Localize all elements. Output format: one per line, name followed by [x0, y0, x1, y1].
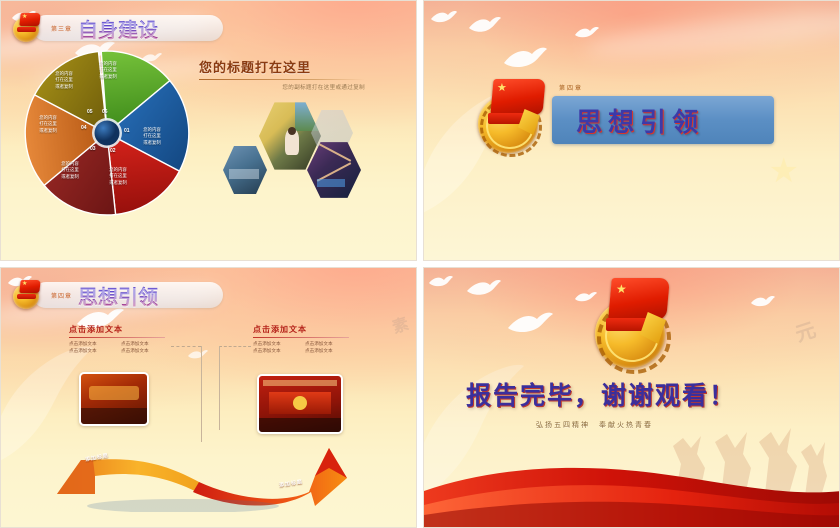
pie-chart[interactable]: 您的内容打在这里或者复制 您的内容打在这里或者复制 您的内容打在这里或者复制 您… [19, 49, 199, 224]
block-body-item: 点击添加文本 [253, 348, 297, 354]
slide-deck-grid: ★ 第三章 自身建设 [0, 0, 840, 528]
chapter-label: 第四章 [559, 83, 583, 92]
slide-header: ★ 第三章 自身建设 [5, 11, 235, 45]
pie-segment-number-03: 03 [90, 146, 96, 152]
pie-segment-number-04: 04 [81, 125, 87, 131]
title-divider [199, 79, 365, 80]
pie-segment-number-01: 01 [124, 128, 130, 134]
text-block-left: 点击添加文本 点击添加文本 点击添加文本 点击添加文本 点击添加文本 [69, 324, 165, 354]
header-chapter-label: 第四章 [51, 291, 72, 300]
pie-segment-number-05: 05 [87, 109, 93, 115]
connector-line [171, 346, 201, 347]
communist-youth-league-emblem-icon: ★ [11, 280, 43, 310]
header-chapter-label: 第三章 [51, 24, 72, 33]
communist-youth-league-emblem-icon: ★ [592, 278, 678, 370]
slide-3[interactable]: 素 ★ 第四章 思想引领 点击添加文本 点击添加文本 点击添加文本 点击添加文本… [0, 267, 417, 528]
block-heading: 点击添加文本 [69, 324, 165, 335]
thanks-title: 报告完毕，谢谢观看！ [466, 376, 736, 412]
block-body-item: 点击添加文本 [253, 341, 297, 347]
slide-header: ★ 第四章 思想引领 [5, 278, 235, 312]
slide-2[interactable]: ★ 第四章 思想引领 ★ [423, 0, 840, 261]
communist-youth-league-emblem-icon: ★ [11, 13, 43, 43]
block-body: 点击添加文本 点击添加文本 点击添加文本 点击添加文本 [69, 341, 165, 354]
communist-youth-league-emblem-icon: ★ [476, 79, 552, 155]
block-body-item: 点击添加文本 [305, 341, 349, 347]
block-body-item: 点击添加文本 [121, 341, 165, 347]
content-subtitle: 您的副标题打在这里或通过复制 [199, 83, 365, 91]
arrow-flow-graphic [53, 420, 373, 512]
red-ribbon-wave [424, 457, 840, 527]
connector-vertical [219, 346, 220, 430]
header-title: 思想引领 [78, 281, 158, 310]
header-title: 自身建设 [78, 14, 158, 43]
hexagon-photo-cluster[interactable] [219, 97, 369, 197]
photo-harbor-hex[interactable] [223, 145, 267, 195]
thanks-subtitle: 弘扬五四精神 奉献火热青春 [536, 420, 653, 430]
block-heading: 点击添加文本 [253, 324, 349, 335]
connector-line [219, 346, 251, 347]
pie-segment-number-02: 02 [110, 148, 116, 154]
block-divider [253, 337, 349, 338]
slide-1[interactable]: ★ 第三章 自身建设 [0, 0, 417, 261]
block-body: 点击添加文本 点击添加文本 点击添加文本 点击添加文本 [253, 341, 349, 354]
block-body-item: 点击添加文本 [305, 348, 349, 354]
slide1-content-title-group: 您的标题打在这里 您的副标题打在这里或通过复制 [199, 57, 365, 91]
block-body-item: 点击添加文本 [69, 341, 113, 347]
block-body-item: 点击添加文本 [69, 348, 113, 354]
slide-4[interactable]: 元 ★ 报告完毕，谢谢观看！ 弘扬五四精神 奉献火热青春 [423, 267, 840, 528]
block-divider [69, 337, 165, 338]
banner-title: 思想引领 [576, 102, 704, 139]
text-block-right: 点击添加文本 点击添加文本 点击添加文本 点击添加文本 点击添加文本 [253, 324, 349, 354]
content-title: 您的标题打在这里 [199, 57, 365, 76]
pie-segment-number-06: 06 [102, 109, 108, 115]
block-body-item: 点击添加文本 [121, 348, 165, 354]
photo-conference-hall-red[interactable] [79, 372, 149, 426]
photo-night-industry-hex[interactable] [307, 141, 361, 199]
